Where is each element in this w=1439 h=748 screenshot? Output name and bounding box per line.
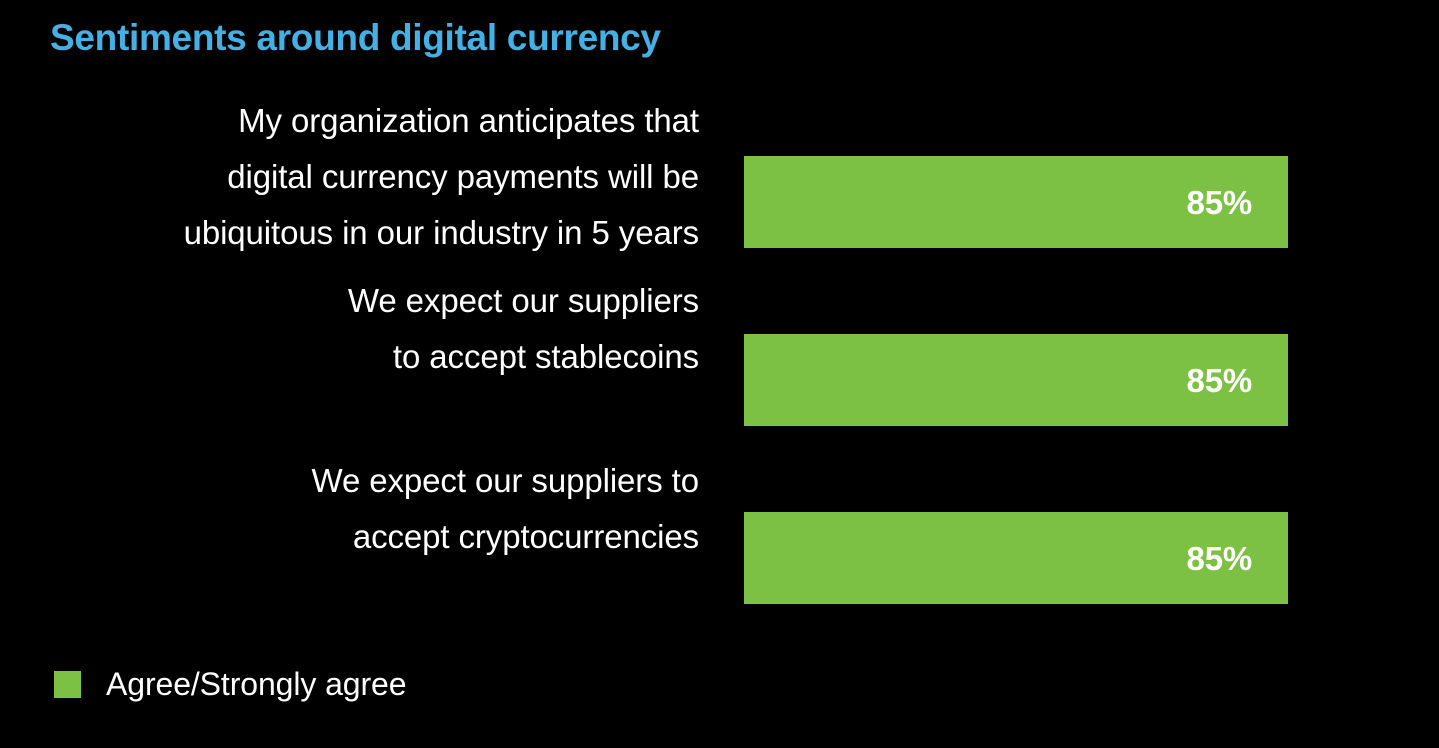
bar-value-label: 85% <box>1187 542 1252 575</box>
category-label-line: My organization anticipates that <box>0 93 699 149</box>
bar-agree-strongly-agree[interactable]: 85% <box>744 156 1288 248</box>
category-label-line: digital currency payments will be <box>0 149 699 205</box>
bar-row: My organization anticipates that digital… <box>0 104 1439 249</box>
chart-legend: Agree/Strongly agree <box>54 668 406 700</box>
bar-track: 85% <box>744 156 1384 248</box>
bar-agree-strongly-agree[interactable]: 85% <box>744 334 1288 426</box>
chart-slide: Sentiments around digital currency My or… <box>0 0 1439 748</box>
bar-track: 85% <box>744 334 1384 426</box>
page-title: Sentiments around digital currency <box>50 16 661 60</box>
category-label-line: We expect our suppliers <box>0 273 699 329</box>
category-label-line: to accept stablecoins <box>0 329 699 385</box>
category-label-line: accept cryptocurrencies <box>0 509 699 565</box>
bar-value-label: 85% <box>1187 364 1252 397</box>
bar-row: We expect our suppliers to accept stable… <box>0 279 1439 379</box>
bar-value-label: 85% <box>1187 186 1252 219</box>
category-label: We expect our suppliers to accept crypto… <box>0 453 699 565</box>
chart-plot-area: My organization anticipates that digital… <box>0 104 1439 624</box>
category-label: We expect our suppliers to accept stable… <box>0 273 699 385</box>
category-label-line: We expect our suppliers to <box>0 453 699 509</box>
legend-item-label: Agree/Strongly agree <box>106 668 406 700</box>
bar-agree-strongly-agree[interactable]: 85% <box>744 512 1288 604</box>
bar-row: We expect our suppliers to accept crypto… <box>0 459 1439 559</box>
category-label: My organization anticipates that digital… <box>0 93 699 261</box>
category-label-line: ubiquitous in our industry in 5 years <box>0 205 699 261</box>
bar-track: 85% <box>744 512 1384 604</box>
legend-square-icon <box>54 671 81 698</box>
